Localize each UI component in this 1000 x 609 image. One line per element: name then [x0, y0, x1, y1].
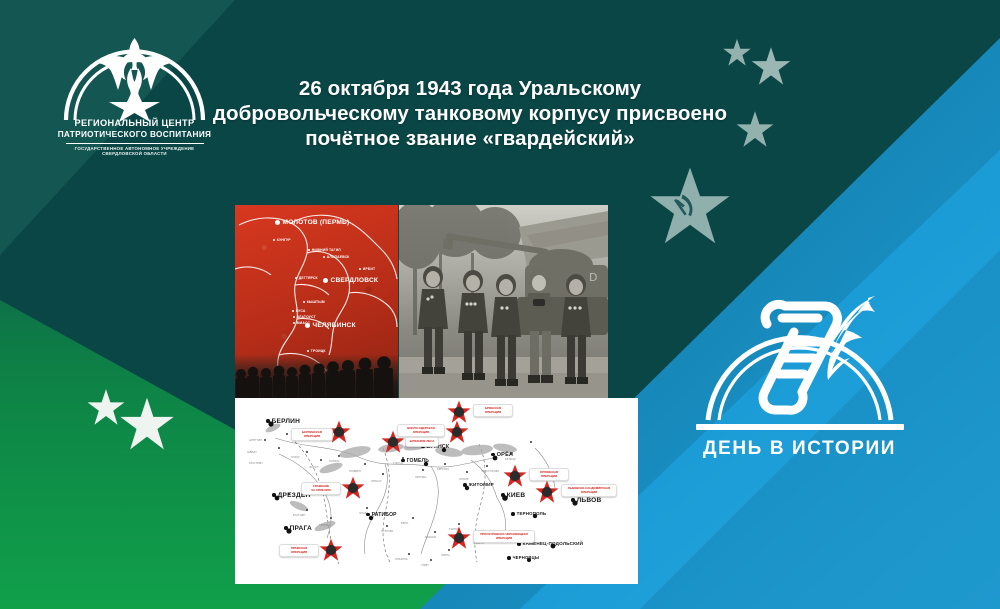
map-city-label: КУСА	[292, 309, 305, 313]
svg-text:ЗОРАУ: ЗОРАУ	[291, 455, 300, 459]
svg-text:БРНО: БРНО	[401, 521, 408, 525]
city-name: ЗЛАТОУСТ	[297, 315, 316, 319]
city-name: БЕРЛИН	[272, 418, 300, 425]
map-city-label: АЛАПАЕВСК	[323, 255, 349, 259]
route-city-label: ТЕРНОПОЛЬ	[511, 511, 546, 516]
map-city-label: ТРОИЦК	[307, 349, 326, 353]
svg-text:ЧЕНСТОХОВА: ЧЕНСТОХОВА	[481, 469, 499, 473]
operation-tag: ОРЛОВСКАЯ ОПЕРАЦИЯ	[529, 468, 569, 481]
route-city-label: ОРЁЛ	[491, 452, 513, 458]
city-name: ЖИТОМИР	[469, 482, 494, 487]
svg-text:КРАКОВ: КРАКОВ	[425, 535, 436, 539]
route-city-label: ПРАГА	[284, 525, 312, 532]
city-name: ГОМЕЛЬ	[407, 458, 429, 464]
svg-text:ФОРСТ: ФОРСТ	[309, 465, 319, 469]
map-city-label: НИЖНИЙ ТАГИЛ	[308, 248, 341, 252]
route-city-label: КИЕВ	[501, 492, 525, 499]
star-top-right-2	[750, 46, 792, 88]
city-name: КИЕВ	[507, 492, 526, 499]
route-city-label: РАТИБОР	[366, 512, 397, 518]
operation-tag: ПРОСКУРОВСКО-ЧЕРНОВИЦКАЯ ОПЕРАЦИЯ	[473, 530, 535, 543]
city-name: ДЕГТЯРСК	[299, 276, 318, 280]
city-name: ИРБИТ	[363, 267, 375, 271]
city-name: КУСА	[296, 309, 306, 313]
day-in-history-emblem: ДЕНЬ В ИСТОРИИ	[672, 272, 927, 472]
star-soviet-large	[648, 166, 732, 250]
city-name: ЛЬВОВ	[577, 497, 602, 504]
operation-tag: БЕРЛИНСКАЯ ОПЕРАЦИЯ	[291, 428, 333, 441]
route-city-label: ГОМЕЛЬ	[401, 458, 429, 464]
tank-crew-photo: D	[399, 205, 608, 398]
scroll-quill-icon	[672, 272, 927, 422]
operation-tag: ЛЬВОВСКО-САНДОМИРСКАЯ ОПЕРАЦИЯ	[561, 484, 617, 497]
city-name: КЫШТЫМ	[307, 300, 325, 304]
star-bottom-left-2	[118, 396, 176, 454]
svg-text:ЛИГНИЦ: ЛИГНИЦ	[415, 475, 426, 479]
operation-tag: БРЯНСКАЯ ОПЕРАЦИЯ	[473, 404, 513, 417]
flame-flower-emblem-icon	[52, 22, 217, 122]
map-city-label: СВЕРДЛОВСК	[323, 277, 378, 284]
poster-root: РЕГИОНАЛЬНЫЙ ЦЕНТР ПАТРИОТИЧЕСКОГО ВОСПИ…	[0, 0, 1000, 609]
map-city-label: ИРБИТ	[359, 267, 375, 271]
city-name: КУНГУР	[277, 238, 291, 242]
city-name: РАТИБОР	[372, 512, 397, 518]
svg-text:КЮСТРИН: КЮСТРИН	[249, 461, 263, 465]
logo-divider	[66, 143, 204, 144]
city-name: ТЕРНОПОЛЬ	[517, 511, 547, 516]
map-city-label: КУНГУР	[273, 238, 291, 242]
operation-star-badge	[535, 480, 557, 502]
city-name: МОЛОТОВ (ПЕРМЬ)	[283, 219, 350, 226]
operation-star-badge	[319, 538, 341, 560]
svg-text:БАУТЦЕН: БАУТЦЕН	[293, 513, 305, 517]
city-name: ПРАГА	[290, 525, 312, 532]
route-city-label: ЖИТОМИР	[463, 482, 494, 487]
soldiers-silhouette	[235, 354, 398, 398]
emblem-label: ДЕНЬ В ИСТОРИИ	[672, 438, 927, 460]
city-name: ОРЁЛ	[497, 452, 514, 458]
route-city-label: ЧЕРНОВЦЫ	[507, 555, 539, 560]
city-name: АЛАПАЕВСК	[327, 255, 350, 259]
logo-line-1: РЕГИОНАЛЬНЫЙ ЦЕНТР	[52, 118, 217, 129]
map-city-label: МОЛОТОВ (ПЕРМЬ)	[275, 219, 349, 226]
battle-route-map: ШТЕТТИНШВЕДТКЮСТРИН ЗОРАУФОРСТКОТБУС ЛЮБ…	[235, 398, 638, 584]
svg-text:ПЛЬЗЕНЬ: ПЛЬЗЕНЬ	[395, 557, 408, 561]
logo-text-block: РЕГИОНАЛЬНЫЙ ЦЕНТР ПАТРИОТИЧЕСКОГО ВОСПИ…	[52, 118, 217, 157]
operation-star-badge	[447, 526, 469, 548]
svg-text:ЛУККАУ: ЛУККАУ	[371, 479, 382, 483]
svg-text:ШТЕТТИН: ШТЕТТИН	[249, 438, 262, 442]
city-name: ЧЕРНОВЦЫ	[513, 555, 540, 560]
star-mid-right	[735, 110, 775, 150]
operation-tag: БРЯНСКИЕ ЛЕСА	[405, 437, 439, 447]
operation-star-badge	[503, 464, 525, 486]
city-name: ЧЕЛЯБИНСК	[313, 322, 356, 329]
organization-logo: РЕГИОНАЛЬНЫЙ ЦЕНТР ПАТРИОТИЧЕСКОГО ВОСПИ…	[52, 22, 217, 167]
logo-line-2: ПАТРИОТИЧЕСКОГО ВОСПИТАНИЯ	[52, 129, 217, 140]
logo-subtitle-2: СВЕРДЛОВСКОЙ ОБЛАСТИ	[52, 151, 217, 157]
svg-text:ЛЮББЕН: ЛЮББЕН	[349, 469, 361, 473]
page-title: 26 октября 1943 года Уральскому добровол…	[210, 76, 730, 151]
operation-tag: СРАЖЕНИЕ ЗА СИЛЕЗИЮ	[301, 482, 341, 495]
svg-text:ОСТРАВА: ОСТРАВА	[381, 529, 394, 533]
svg-text:ОПОЛЕ: ОПОЛЕ	[459, 477, 469, 481]
map-city-label: ЗЛАТОУСТ	[293, 315, 316, 319]
city-name: СВЕРДЛОВСК	[331, 277, 379, 284]
svg-text:ШВЕДТ: ШВЕДТ	[247, 450, 257, 454]
operation-star-badge	[341, 476, 363, 498]
city-name: НИЖНИЙ ТАГИЛ	[312, 248, 341, 252]
map-city-label: КЫШТЫМ	[303, 300, 325, 304]
map-city-label: ДЕГТЯРСК	[295, 276, 318, 280]
emblem-divider-bar	[696, 424, 904, 430]
route-city-label: БЕРЛИН	[266, 418, 300, 425]
city-name: ТРОИЦК	[311, 349, 326, 353]
operation-star-badge	[447, 400, 469, 422]
svg-text:НИТРА: НИТРА	[441, 553, 450, 557]
ural-region-map: МОЛОТОВ (ПЕРМЬ) КУНГУР НИЖНИЙ ТАГИЛ АЛАП…	[235, 205, 398, 398]
svg-text:ЗЛИН: ЗЛИН	[421, 563, 429, 567]
svg-text:КОТБУС: КОТБУС	[329, 459, 340, 463]
route-city-label: ЛЬВОВ	[571, 497, 601, 504]
star-top-right-1	[722, 38, 752, 68]
svg-text:БРЕСЛАУ: БРЕСЛАУ	[437, 467, 450, 471]
operation-tag: ВИСЛО-ОДЕРСКАЯ ОПЕРАЦИЯ	[397, 424, 445, 437]
map-city-label: ЧЕЛЯБИНСК	[305, 322, 356, 329]
operation-tag: ПРАЖСКАЯ ОПЕРАЦИЯ	[279, 544, 319, 557]
